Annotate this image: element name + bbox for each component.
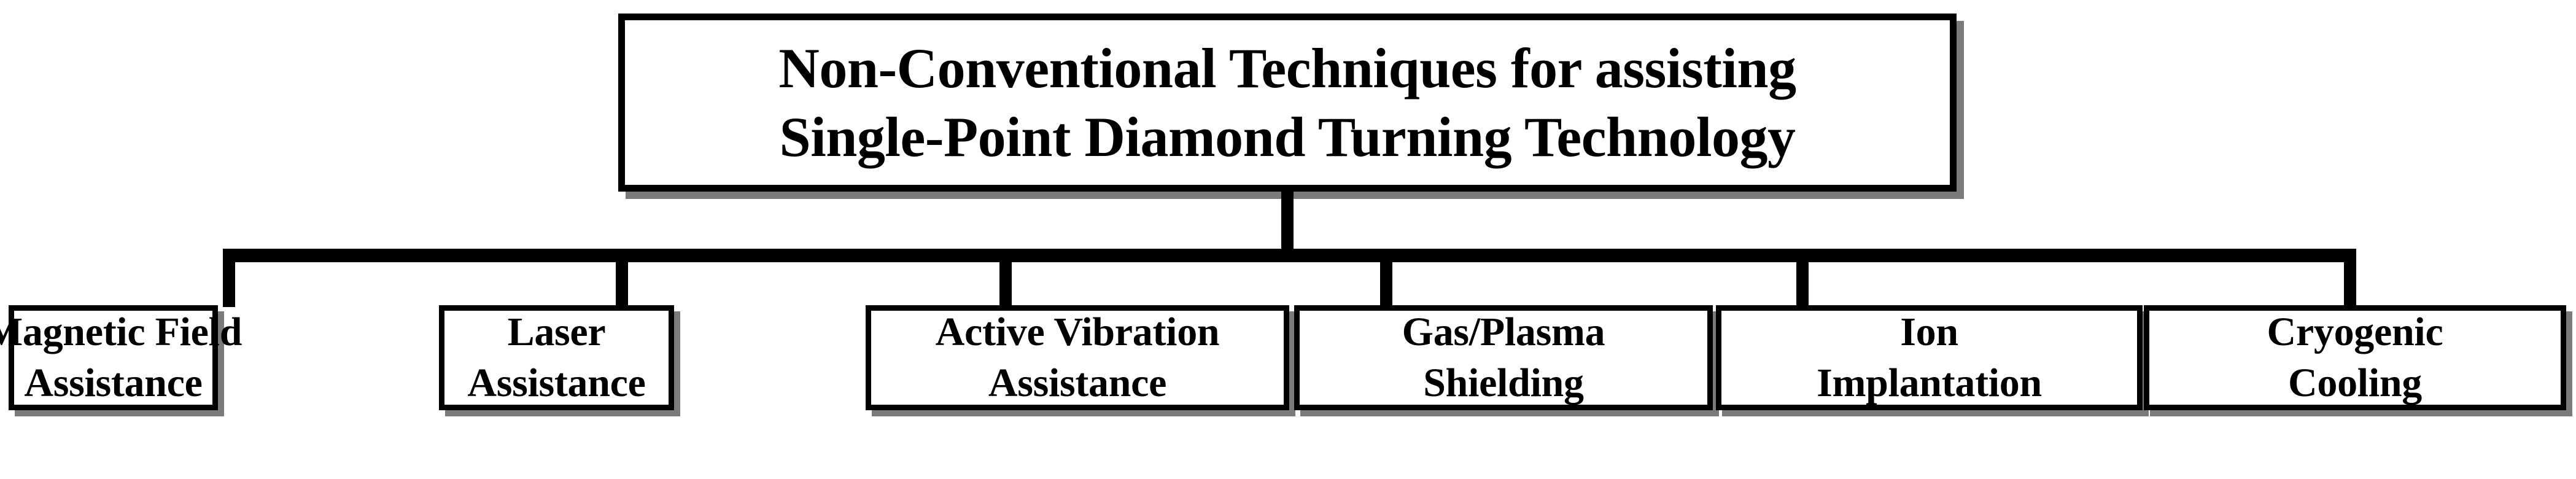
distribution-connector-bar [223,249,2356,262]
leaf-node-active-vibration-assistance[interactable]: Active Vibration Assistance [866,305,1289,410]
leaf-node-line-1: Laser [508,307,606,358]
drop-connector-laser-assistance [616,261,628,307]
leaf-node-line-1: Active Vibration [936,307,1220,358]
trunk-connector-stem [1281,192,1294,251]
leaf-node-gas-plasma-shielding[interactable]: Gas/Plasma Shielding [1294,305,1713,410]
leaf-node-line-2: Assistance [24,358,202,409]
drop-connector-ion-implantation [1796,261,1809,307]
drop-connector-active-vibration-assistance [999,261,1012,307]
root-node-line-2: Single-Point Diamond Turning Technology [780,103,1796,171]
leaf-node-cryogenic-cooling[interactable]: Cryogenic Cooling [2144,305,2566,410]
drop-connector-magnetic-field-assistance [223,261,235,307]
leaf-node-line-2: Implantation [1817,358,2042,409]
leaf-node-line-1: Ion [1900,307,1958,358]
root-node-line-1: Non-Conventional Techniques for assistin… [778,34,1796,103]
root-node-title-box[interactable]: Non-Conventional Techniques for assistin… [618,14,1957,192]
drop-connector-gas-plasma-shielding [1380,261,1392,307]
leaf-node-line-1: Gas/Plasma [1402,307,1605,358]
diagram-canvas: Non-Conventional Techniques for assistin… [0,0,2576,479]
leaf-node-line-2: Assistance [467,358,645,409]
drop-connector-cryogenic-cooling [2344,261,2356,307]
leaf-node-line-2: Assistance [988,358,1166,409]
leaf-node-line-2: Shielding [1423,358,1583,409]
leaf-node-magnetic-field-assistance[interactable]: Magnetic Field Assistance [9,305,218,410]
leaf-node-laser-assistance[interactable]: Laser Assistance [439,305,674,410]
leaf-node-ion-implantation[interactable]: Ion Implantation [1716,305,2143,410]
leaf-node-line-1: Cryogenic [2267,307,2443,358]
leaf-node-line-2: Cooling [2288,358,2422,409]
leaf-node-line-1: Magnetic Field [0,307,242,358]
